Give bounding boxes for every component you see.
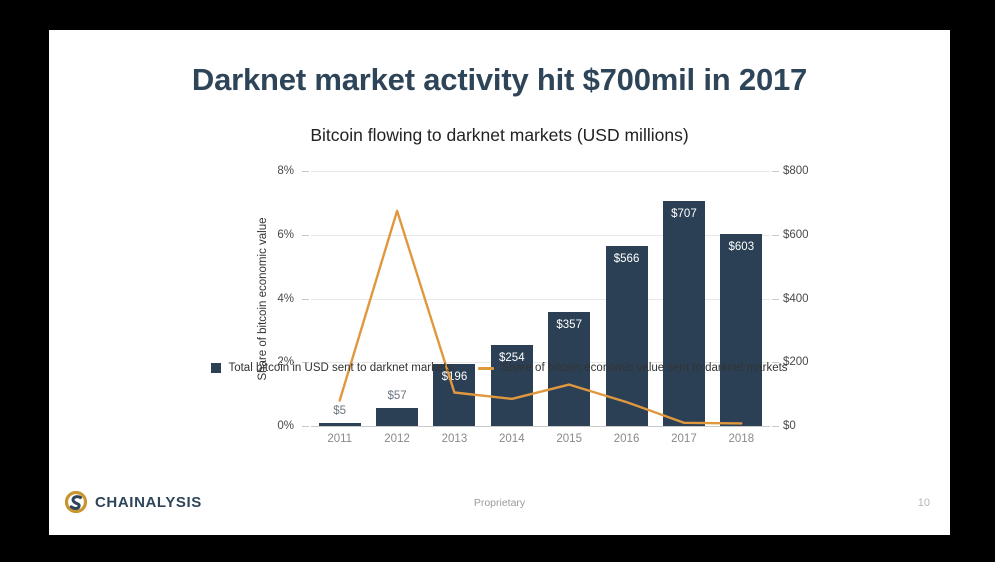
tick-mark-right: [772, 299, 779, 300]
tick-mark-right: [772, 235, 779, 236]
line-swatch-icon: [478, 367, 494, 370]
tick-mark-left: [302, 235, 309, 236]
footer-note: Proprietary: [49, 497, 950, 509]
y-axis-tick-label: 4%: [234, 293, 294, 305]
tick-mark-right: [772, 171, 779, 172]
chart-legend: Total bitcoin in USD sent to darknet mar…: [49, 362, 950, 374]
tick-mark-left: [302, 171, 309, 172]
y2-axis-tick-label: $800: [783, 165, 853, 177]
legend-item-bars: Total bitcoin in USD sent to darknet mar…: [211, 362, 452, 374]
page-title: Darknet market activity hit $700mil in 2…: [49, 62, 950, 98]
axis-baseline: [311, 426, 770, 427]
legend-item-line: Share of bitcoin economic value sent to …: [478, 362, 787, 374]
tick-mark-right: [772, 426, 779, 427]
line-series: [311, 171, 770, 426]
y-axis-tick-label: 6%: [234, 229, 294, 241]
plot-area: Share of bitcoin economic value 0%$02%$2…: [311, 171, 770, 426]
y2-axis-tick-label: $0: [783, 420, 853, 432]
y2-axis-tick-label: $600: [783, 229, 853, 241]
page-number: 10: [918, 497, 930, 509]
x-axis-tick-label: 2018: [706, 433, 776, 445]
slide: Darknet market activity hit $700mil in 2…: [49, 30, 950, 535]
y-axis-tick-label: 0%: [234, 420, 294, 432]
square-swatch-icon: [211, 363, 221, 373]
slide-footer: CHAINALYSIS Proprietary 10: [49, 479, 950, 535]
legend-label-bars: Total bitcoin in USD sent to darknet mar…: [228, 362, 452, 374]
tick-mark-left: [302, 426, 309, 427]
chart: Bitcoin flowing to darknet markets (USD …: [49, 125, 950, 485]
y-axis-tick-label: 8%: [234, 165, 294, 177]
tick-mark-left: [302, 299, 309, 300]
chart-title: Bitcoin flowing to darknet markets (USD …: [49, 125, 950, 146]
legend-label-line: Share of bitcoin economic value sent to …: [501, 362, 787, 374]
y2-axis-tick-label: $400: [783, 293, 853, 305]
